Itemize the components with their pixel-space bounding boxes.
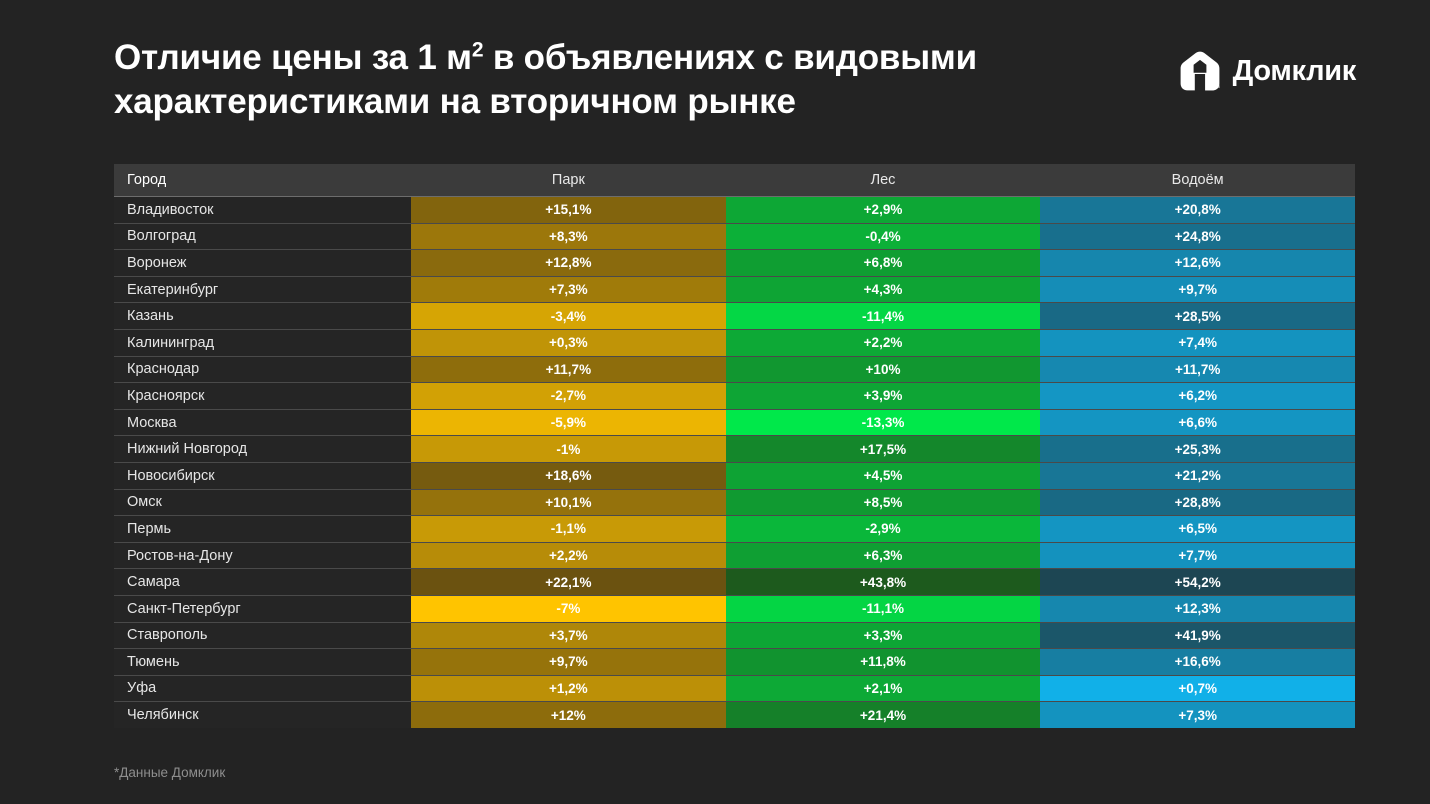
cell-forest: -2,9% <box>726 516 1041 543</box>
page-title-superscript: 2 <box>472 38 483 61</box>
table-header-row: Город Парк Лес Водоём <box>114 164 1355 197</box>
cell-forest: -0,4% <box>726 223 1041 250</box>
cell-water: +9,7% <box>1040 276 1355 303</box>
table-body: Владивосток+15,1%+2,9%+20,8%Волгоград+8,… <box>114 197 1355 728</box>
table-row: Краснодар+11,7%+10%+11,7% <box>114 356 1355 383</box>
domklik-house-icon <box>1179 50 1221 92</box>
page-title-text-a: Отличие цены за 1 м <box>114 38 472 77</box>
cell-park: +11,7% <box>411 356 726 383</box>
cell-forest: -11,4% <box>726 303 1041 330</box>
cell-park: +15,1% <box>411 197 726 224</box>
cell-park: +18,6% <box>411 462 726 489</box>
cell-water: +16,6% <box>1040 649 1355 676</box>
cell-forest: +3,3% <box>726 622 1041 649</box>
cell-water: +6,6% <box>1040 409 1355 436</box>
cell-water: +12,3% <box>1040 595 1355 622</box>
cell-park: +0,3% <box>411 329 726 356</box>
cell-water: +0,7% <box>1040 675 1355 702</box>
cell-water: +25,3% <box>1040 436 1355 463</box>
cell-park: +1,2% <box>411 675 726 702</box>
cell-city: Ростов-на-Дону <box>114 542 411 569</box>
cell-water: +24,8% <box>1040 223 1355 250</box>
source-footnote: *Данные Домклик <box>114 765 225 780</box>
table-row: Калининград+0,3%+2,2%+7,4% <box>114 329 1355 356</box>
table-row: Красноярск-2,7%+3,9%+6,2% <box>114 383 1355 410</box>
cell-water: +21,2% <box>1040 462 1355 489</box>
table-row: Уфа+1,2%+2,1%+0,7% <box>114 675 1355 702</box>
cell-city: Калининград <box>114 329 411 356</box>
table-row: Казань-3,4%-11,4%+28,5% <box>114 303 1355 330</box>
table-row: Ставрополь+3,7%+3,3%+41,9% <box>114 622 1355 649</box>
cell-forest: +6,3% <box>726 542 1041 569</box>
cell-park: -1,1% <box>411 516 726 543</box>
cell-city: Самара <box>114 569 411 596</box>
cell-city: Тюмень <box>114 649 411 676</box>
infographic-page: Отличие цены за 1 м2 в объявлениях с вид… <box>0 0 1430 804</box>
cell-water: +28,5% <box>1040 303 1355 330</box>
cell-park: +8,3% <box>411 223 726 250</box>
cell-city: Казань <box>114 303 411 330</box>
cell-park: -5,9% <box>411 409 726 436</box>
cell-forest: +11,8% <box>726 649 1041 676</box>
brand-name: Домклик <box>1233 55 1356 88</box>
cell-park: +12,8% <box>411 250 726 277</box>
cell-park: -7% <box>411 595 726 622</box>
cell-forest: +4,5% <box>726 462 1041 489</box>
table-row: Владивосток+15,1%+2,9%+20,8% <box>114 197 1355 224</box>
cell-city: Пермь <box>114 516 411 543</box>
cell-forest: +17,5% <box>726 436 1041 463</box>
cell-park: +9,7% <box>411 649 726 676</box>
cell-city: Омск <box>114 489 411 516</box>
cell-forest: +8,5% <box>726 489 1041 516</box>
table-row: Тюмень+9,7%+11,8%+16,6% <box>114 649 1355 676</box>
cell-forest: +10% <box>726 356 1041 383</box>
cell-water: +7,4% <box>1040 329 1355 356</box>
cell-water: +6,5% <box>1040 516 1355 543</box>
table-row: Ростов-на-Дону+2,2%+6,3%+7,7% <box>114 542 1355 569</box>
column-header-park: Парк <box>411 164 726 197</box>
cell-city: Волгоград <box>114 223 411 250</box>
cell-city: Краснодар <box>114 356 411 383</box>
table-row: Санкт-Петербург-7%-11,1%+12,3% <box>114 595 1355 622</box>
cell-forest: +4,3% <box>726 276 1041 303</box>
brand-logo: Домклик <box>1179 50 1356 92</box>
table-row: Самара+22,1%+43,8%+54,2% <box>114 569 1355 596</box>
cell-park: +10,1% <box>411 489 726 516</box>
cell-city: Екатеринбург <box>114 276 411 303</box>
cell-park: -2,7% <box>411 383 726 410</box>
table-row: Волгоград+8,3%-0,4%+24,8% <box>114 223 1355 250</box>
cell-forest: +3,9% <box>726 383 1041 410</box>
cell-water: +54,2% <box>1040 569 1355 596</box>
comparison-table: Город Парк Лес Водоём Владивосток+15,1%+… <box>114 164 1355 728</box>
cell-water: +20,8% <box>1040 197 1355 224</box>
cell-city: Воронеж <box>114 250 411 277</box>
table-row: Москва-5,9%-13,3%+6,6% <box>114 409 1355 436</box>
column-header-forest: Лес <box>726 164 1041 197</box>
cell-city: Уфа <box>114 675 411 702</box>
cell-water: +41,9% <box>1040 622 1355 649</box>
column-header-city: Город <box>114 164 411 197</box>
cell-city: Москва <box>114 409 411 436</box>
cell-water: +28,8% <box>1040 489 1355 516</box>
cell-park: +3,7% <box>411 622 726 649</box>
cell-water: +6,2% <box>1040 383 1355 410</box>
cell-city: Челябинск <box>114 702 411 728</box>
cell-park: +22,1% <box>411 569 726 596</box>
cell-city: Новосибирск <box>114 462 411 489</box>
cell-water: +7,7% <box>1040 542 1355 569</box>
page-title: Отличие цены за 1 м2 в объявлениях с вид… <box>114 36 1114 124</box>
cell-city: Красноярск <box>114 383 411 410</box>
cell-park: +7,3% <box>411 276 726 303</box>
cell-city: Нижний Новгород <box>114 436 411 463</box>
cell-park: +2,2% <box>411 542 726 569</box>
cell-city: Ставрополь <box>114 622 411 649</box>
cell-forest: -11,1% <box>726 595 1041 622</box>
table-row: Омск+10,1%+8,5%+28,8% <box>114 489 1355 516</box>
page-title-text-b: в объявлениях с видовыми <box>483 38 977 77</box>
cell-city: Санкт-Петербург <box>114 595 411 622</box>
page-title-text-c: характеристиками на вторичном рынке <box>114 82 796 121</box>
cell-forest: +43,8% <box>726 569 1041 596</box>
cell-water: +7,3% <box>1040 702 1355 728</box>
cell-water: +12,6% <box>1040 250 1355 277</box>
cell-forest: +6,8% <box>726 250 1041 277</box>
cell-forest: +2,2% <box>726 329 1041 356</box>
cell-water: +11,7% <box>1040 356 1355 383</box>
table-row: Пермь-1,1%-2,9%+6,5% <box>114 516 1355 543</box>
cell-forest: -13,3% <box>726 409 1041 436</box>
cell-park: -3,4% <box>411 303 726 330</box>
table-row: Екатеринбург+7,3%+4,3%+9,7% <box>114 276 1355 303</box>
cell-forest: +21,4% <box>726 702 1041 728</box>
table-row: Воронеж+12,8%+6,8%+12,6% <box>114 250 1355 277</box>
cell-park: +12% <box>411 702 726 728</box>
cell-city: Владивосток <box>114 197 411 224</box>
table-row: Новосибирск+18,6%+4,5%+21,2% <box>114 462 1355 489</box>
table-row: Челябинск+12%+21,4%+7,3% <box>114 702 1355 728</box>
cell-forest: +2,1% <box>726 675 1041 702</box>
header: Отличие цены за 1 м2 в объявлениях с вид… <box>114 36 1358 136</box>
table-row: Нижний Новгород-1%+17,5%+25,3% <box>114 436 1355 463</box>
cell-park: -1% <box>411 436 726 463</box>
column-header-water: Водоём <box>1040 164 1355 197</box>
cell-forest: +2,9% <box>726 197 1041 224</box>
